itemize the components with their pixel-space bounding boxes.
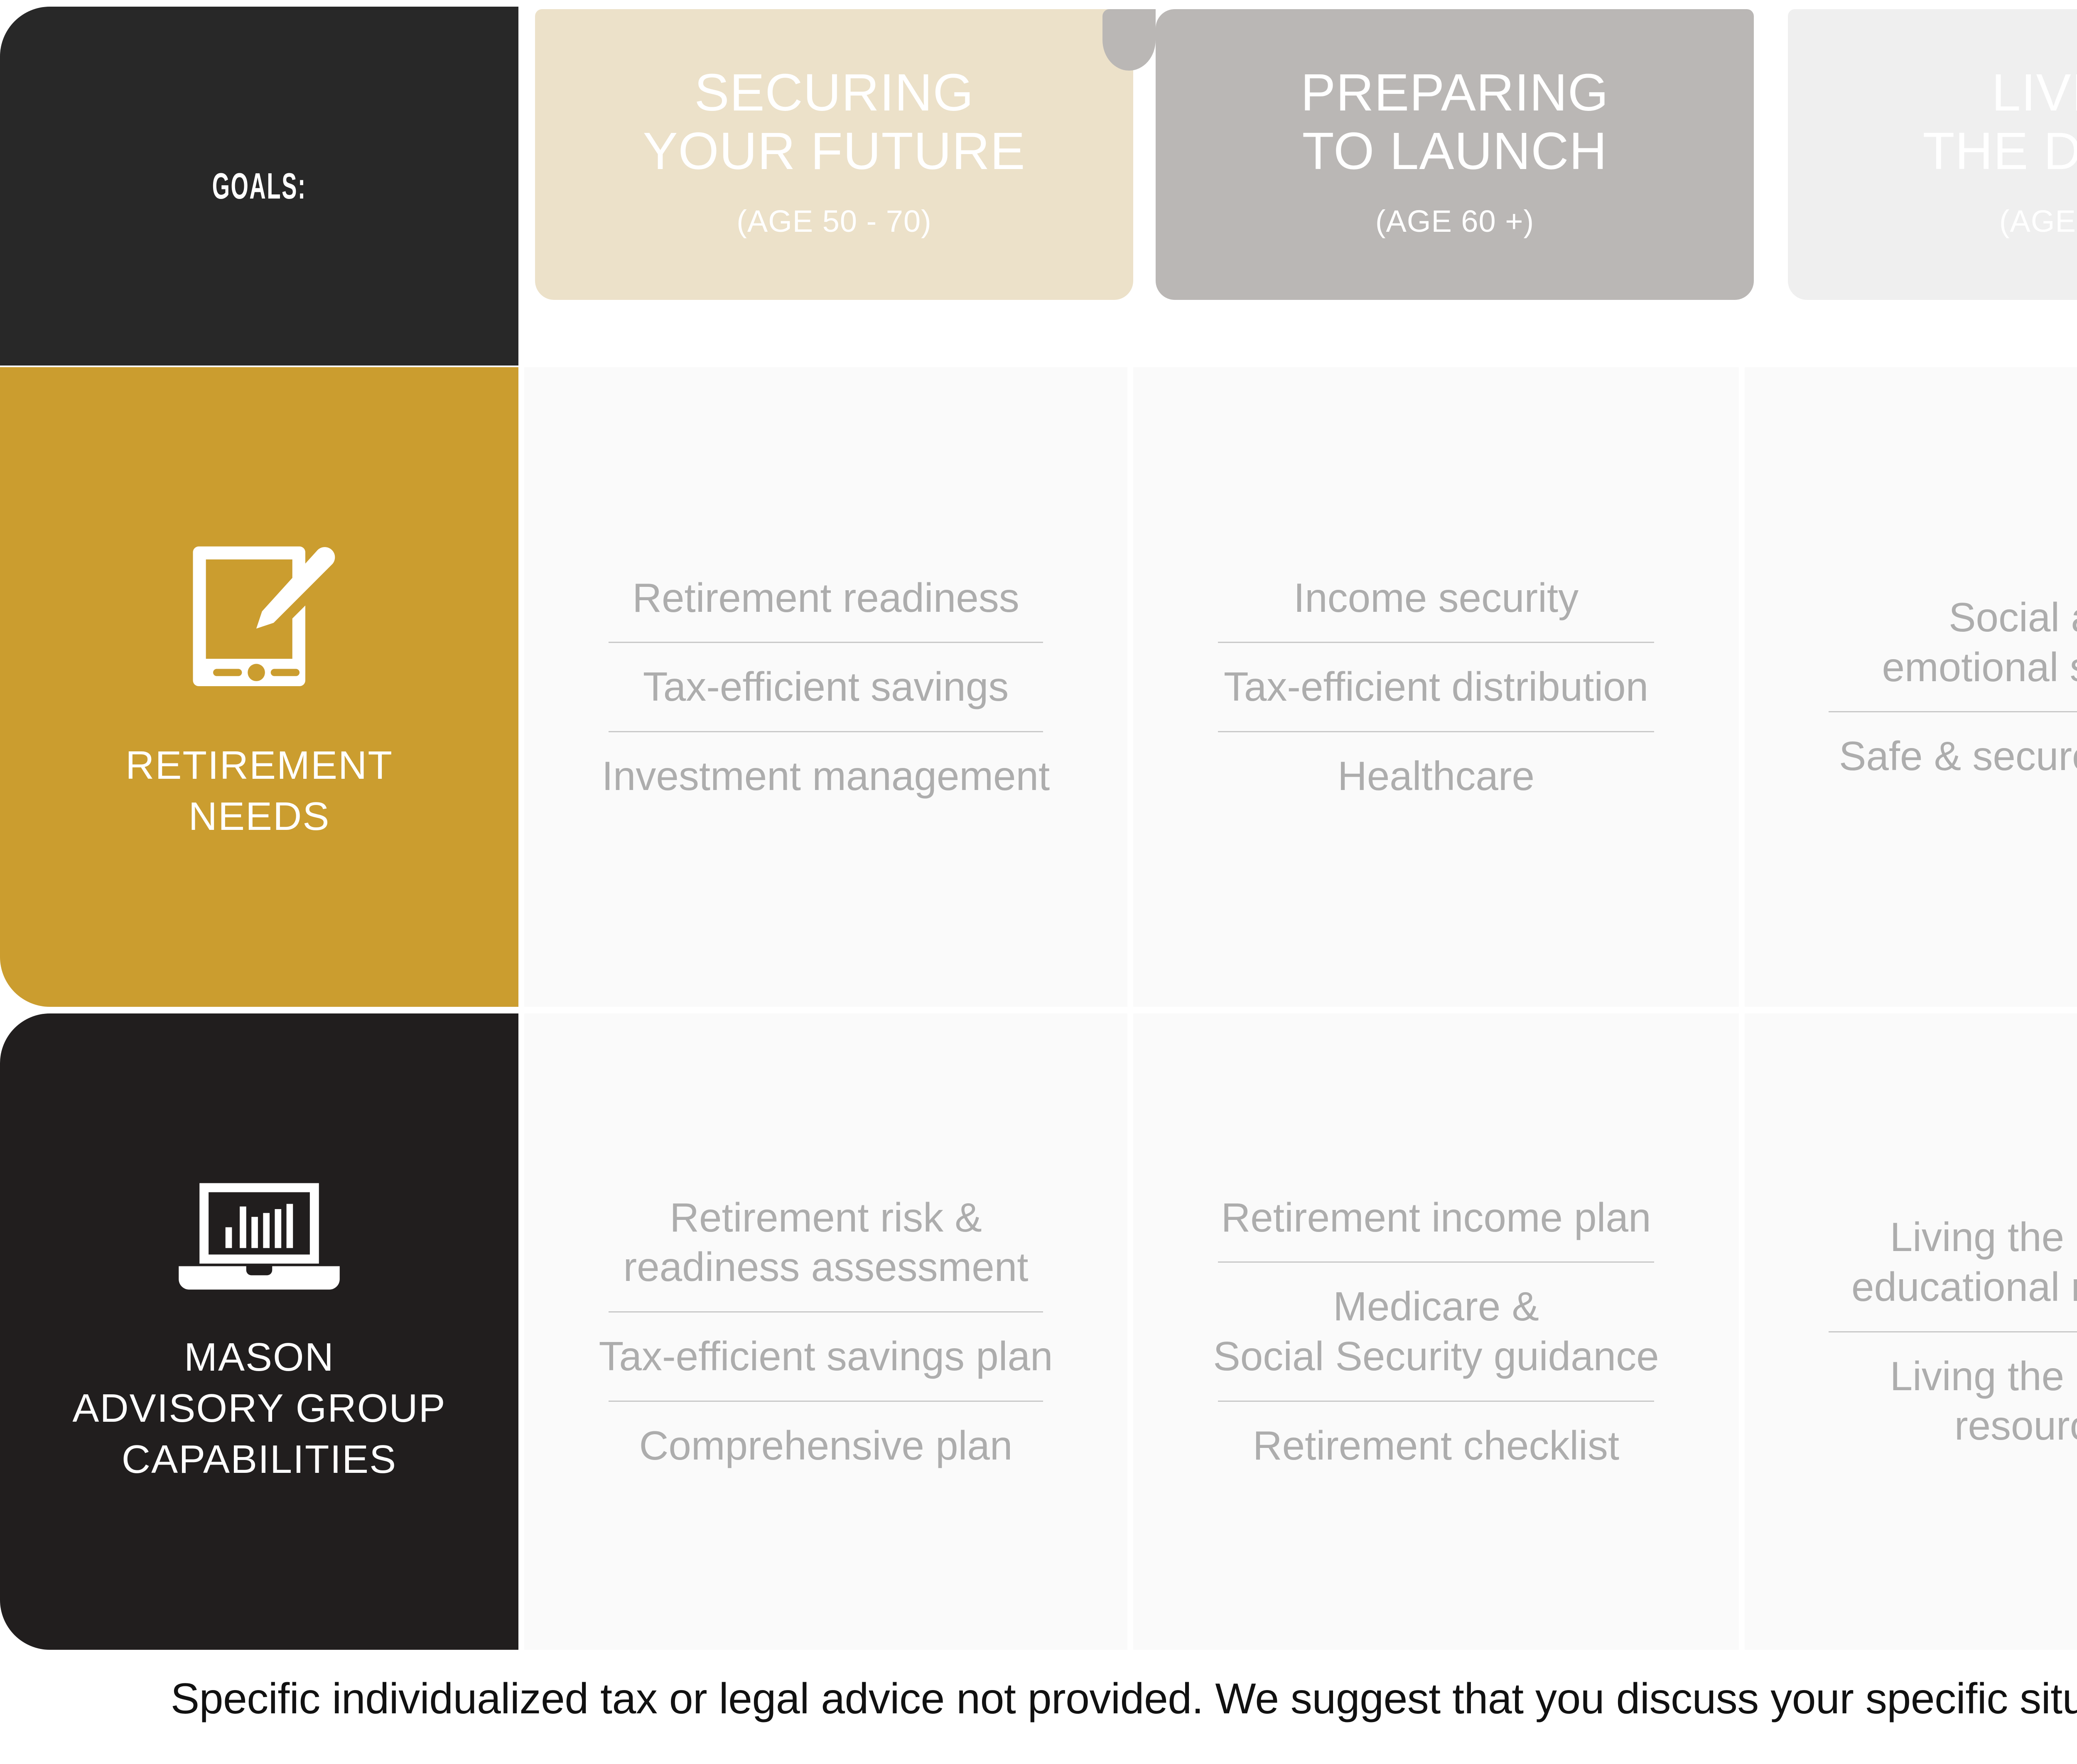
divider [1829,711,2077,712]
list-item: Living the Dream educational materials [1768,1212,2077,1312]
infographic-root: SECURING YOUR FUTURE (AGE 50 - 70) PREPA… [0,0,2077,1764]
divider [1218,1401,1654,1402]
tablet-pencil-icon [172,532,346,713]
footer-disclaimer: Specific individualized tax or legal adv… [0,1657,2077,1740]
cell-caps-securing-your-future: Retirement risk & readiness assessment T… [524,1013,1127,1650]
divider [609,1401,1043,1402]
divider [1218,731,1654,732]
list-item: Living the Dream resources [1768,1352,2077,1451]
tab-living-the-dream[interactable]: LIVING THE DREAM (AGE 65 +) [1788,9,2077,300]
list-item: Retirement checklist [1156,1421,1716,1471]
list-item: Retirement readiness [547,573,1104,623]
cell-caps-living-the-dream: Living the Dream educational materials L… [1745,1013,2077,1650]
list-item: Tax-efficient savings [547,662,1104,712]
cell-needs-preparing-to-launch: Income security Tax-efficient distributi… [1133,367,1739,1007]
list-item: Comprehensive plan [547,1421,1104,1471]
goals-label: GOALS: [212,165,306,207]
tab-age-range: (AGE 65 +) [1999,206,2077,237]
sidebar-goals-header: GOALS: [0,7,518,366]
divider [609,731,1043,732]
list-item: Tax-efficient distribution [1156,662,1716,712]
tab-title: SECURING YOUR FUTURE [643,63,1026,180]
sidebar-retirement-needs: RETIREMENT NEEDS [0,367,518,1007]
cell-caps-preparing-to-launch: Retirement income plan Medicare & Social… [1133,1013,1739,1650]
divider [1218,1261,1654,1263]
tab-age-range: (AGE 50 - 70) [737,206,932,237]
ribbon-curl-left-2 [1102,9,1156,71]
tab-age-range: (AGE 60 +) [1375,206,1534,237]
sidebar-mason-advisory-capabilities: MASON ADVISORY GROUP CAPABILITIES [0,1013,518,1650]
cell-needs-living-the-dream: Social and emotional support Safe & secu… [1745,367,2077,1007]
disclaimer-text: Specific individualized tax or legal adv… [171,1674,2077,1724]
divider [1218,642,1654,643]
list-item: Tax-efficient savings plan [547,1332,1104,1381]
sidebar-retirement-needs-label: RETIREMENT NEEDS [125,740,393,842]
divider [1829,1331,2077,1332]
list-item: Income security [1156,573,1716,623]
divider [609,642,1043,643]
tab-title: PREPARING TO LAUNCH [1301,63,1609,180]
list-item: Social and emotional support [1768,593,2077,692]
list-item: Healthcare [1156,751,1716,801]
divider [609,1311,1043,1313]
list-item: Retirement risk & readiness assessment [547,1193,1104,1292]
cell-needs-securing-your-future: Retirement readiness Tax-efficient savin… [524,367,1127,1007]
tab-preparing-to-launch[interactable]: PREPARING TO LAUNCH (AGE 60 +) [1156,9,1754,300]
list-item: Retirement income plan [1156,1193,1716,1243]
sidebar-capabilities-label: MASON ADVISORY GROUP CAPABILITIES [72,1332,446,1485]
list-item: Safe & secure housing [1768,731,2077,781]
tab-title: LIVING THE DREAM [1922,63,2077,180]
tab-securing-your-future[interactable]: SECURING YOUR FUTURE (AGE 50 - 70) [535,9,1133,300]
laptop-chart-icon [168,1178,351,1305]
list-item: Investment management [547,751,1104,801]
list-item: Medicare & Social Security guidance [1156,1282,1716,1381]
